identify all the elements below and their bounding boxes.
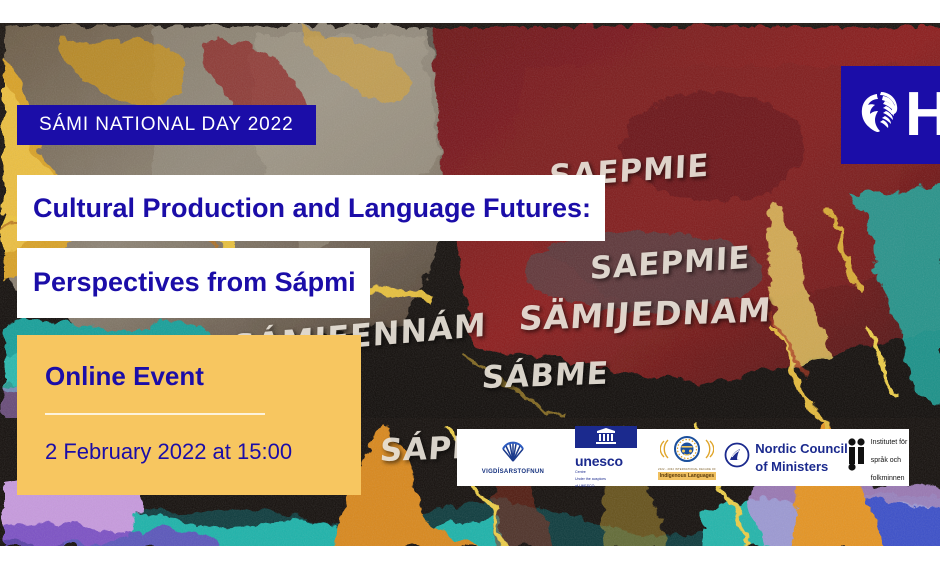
page-title-line-2: Perspectives from Sápmi (17, 248, 370, 318)
unesco-subline-3: of UNESCO (575, 484, 594, 489)
vigdis-fan-icon (501, 440, 525, 467)
isof-wordmark: Institutet för språk och folkminnen (871, 431, 908, 485)
eyebrow-badge: SÁMI NATIONAL DAY 2022 (17, 105, 316, 145)
partner-logo-caption: VIGDÍSARSTOFNUN (482, 469, 544, 475)
university-logo-letter: H (905, 84, 940, 146)
partner-logo-indigenous-languages: 2022 - 2032 INTERNATIONAL DECADE OF Indi… (647, 429, 727, 486)
unesco-subline-2: Under the auspices (575, 477, 606, 482)
isof-line-1: Institutet för (871, 439, 908, 446)
university-logo: H (841, 66, 940, 164)
event-type-label: Online Event (45, 363, 361, 389)
divider (45, 413, 265, 415)
helmeted-head-icon (857, 90, 899, 141)
nordic-council-wordmark: Nordic Council of Ministers (755, 440, 847, 476)
graffiti-word: SÁBME (481, 356, 610, 397)
nordic-line-2: of Ministers (755, 459, 828, 474)
idil-top-caption: 2022 - 2032 INTERNATIONAL DECADE OF (658, 468, 716, 471)
isof-line-2: språk och (871, 457, 901, 464)
event-details-card: Online Event 2 February 2022 at 15:00 (17, 335, 361, 495)
partner-logo-nordic-council: Nordic Council of Ministers (727, 429, 845, 486)
unesco-subline-1: Centre (575, 470, 586, 475)
partner-logo-caption: Indigenous Languages (658, 472, 716, 480)
unesco-wordmark: unesco (575, 454, 623, 468)
partner-logo-vigdis: VIGDÍSARSTOFNUN (457, 429, 569, 486)
idil-emblem-icon (660, 436, 714, 467)
page-title-line-1: Cultural Production and Language Futures… (17, 175, 605, 241)
partner-logo-isof: Institutet för språk och folkminnen (845, 429, 909, 486)
nordic-line-1: Nordic Council (755, 441, 847, 456)
isof-line-3: folkminnen (871, 475, 905, 482)
nordic-swan-icon (724, 442, 750, 473)
unesco-temple-icon (575, 426, 637, 453)
partner-logo-unesco: unesco Centre Under the auspices of UNES… (569, 429, 647, 486)
event-poster: SAEPMIE SAEPMIE SÄMIJEDNAM SÁBME SÁMIEEN… (0, 0, 940, 570)
partner-logo-strip: VIGDÍSARSTOFNUN unesco (457, 429, 909, 486)
event-datetime: 2 February 2022 at 15:00 (45, 441, 361, 463)
isof-pillars-icon (847, 438, 867, 477)
